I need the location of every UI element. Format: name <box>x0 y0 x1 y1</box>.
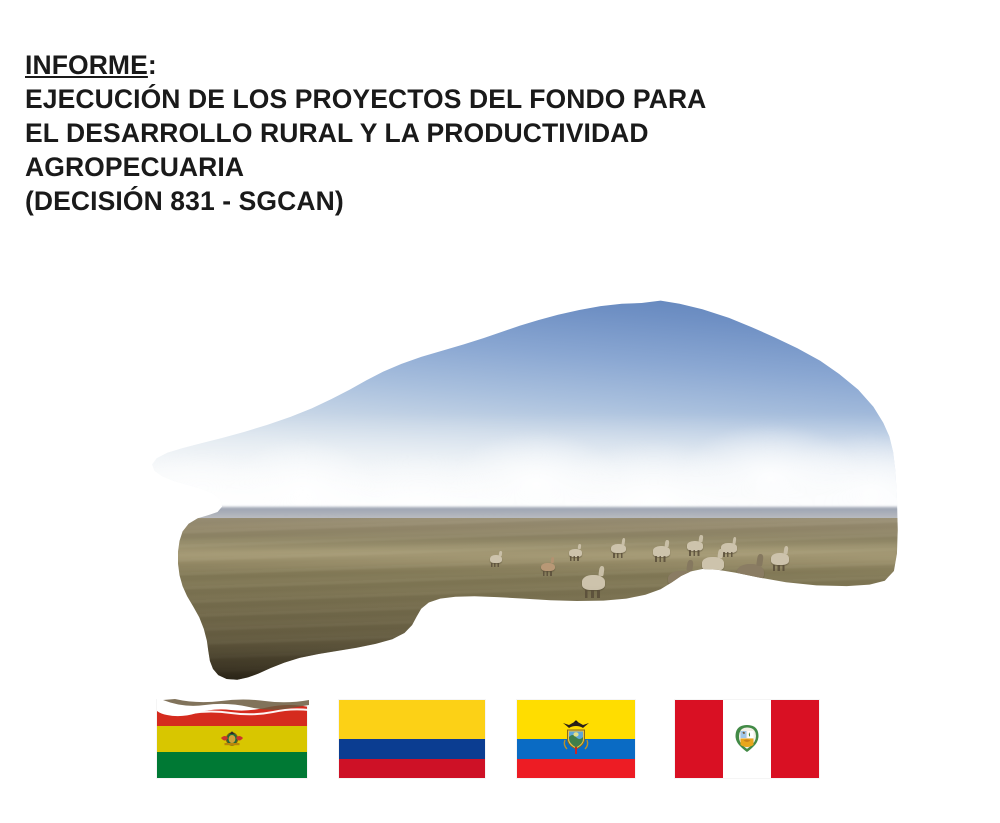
llama <box>702 557 723 570</box>
member-country-flags <box>157 700 819 778</box>
llama <box>771 553 789 565</box>
title-line-5: (DECISIÓN 831 - SGCAN) <box>25 184 945 218</box>
title-line-informe: INFORME: <box>25 48 945 82</box>
flag-peru-right-red-band <box>771 700 819 778</box>
photo-cutout <box>140 296 900 686</box>
title-line-2: EJECUCIÓN DE LOS PROYECTOS DEL FONDO PAR… <box>25 82 945 116</box>
flag-colombia <box>339 700 485 778</box>
title-line-3: EL DESARROLLO RURAL Y LA PRODUCTIVIDAD <box>25 116 945 150</box>
llama <box>653 546 670 556</box>
title-line-informe-colon: : <box>148 50 157 80</box>
llama <box>569 549 582 557</box>
flag-colombia-red-band <box>339 759 485 779</box>
llama <box>721 543 736 552</box>
presentation-slide: INFORME: EJECUCIÓN DE LOS PROYECTOS DEL … <box>0 0 1000 823</box>
flag-bolivia-green-band <box>157 752 307 778</box>
title-line-informe-underlined: INFORME <box>25 50 148 80</box>
flag-bolivia-red-band <box>157 700 307 726</box>
page-title: INFORME: EJECUCIÓN DE LOS PROYECTOS DEL … <box>25 48 945 218</box>
llama <box>737 564 764 581</box>
flag-bolivia <box>157 700 307 778</box>
llama-herd <box>140 296 900 686</box>
coat-of-arms-icon <box>734 724 760 754</box>
llama <box>687 541 703 551</box>
flag-colombia-yellow-band <box>339 700 485 739</box>
flag-colombia-blue-band <box>339 739 485 759</box>
title-line-4: AGROPECUARIA <box>25 150 945 184</box>
llama <box>611 544 626 553</box>
coat-of-arms-icon <box>561 718 591 756</box>
flag-ecuador <box>517 700 635 778</box>
llama <box>582 575 605 590</box>
flag-peru <box>675 700 819 778</box>
llama <box>541 563 555 572</box>
flag-peru-left-red-band <box>675 700 723 778</box>
llama <box>490 555 502 563</box>
llama <box>668 571 694 587</box>
coat-of-arms-icon <box>219 728 245 750</box>
andean-altiplano-photo <box>140 296 900 686</box>
flag-ecuador-red-band <box>517 759 635 779</box>
